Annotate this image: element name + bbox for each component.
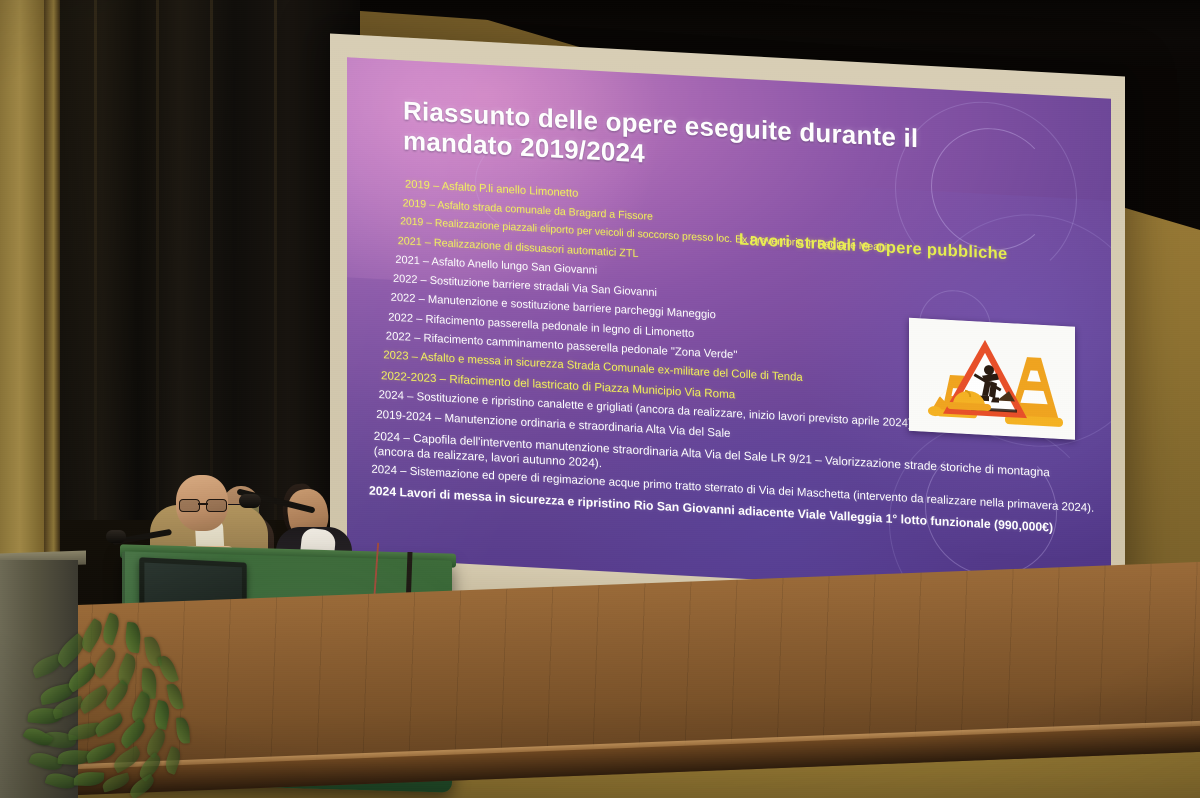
plant-leaf [152, 700, 172, 730]
plant-leaf [114, 653, 140, 687]
plant-leaf [90, 647, 120, 679]
photo-scene: Riassunto delle opere eseguite durante i… [0, 0, 1200, 798]
microphone-icon [106, 530, 126, 543]
plant-leaf [157, 654, 179, 685]
plant-leaf [124, 622, 142, 653]
presentation-slide: Riassunto delle opere eseguite durante i… [347, 57, 1111, 610]
glasses-icon [178, 499, 228, 510]
roadworks-clipart [909, 318, 1075, 440]
plant-leaf [92, 713, 125, 738]
plant-leaf [45, 770, 78, 793]
slide-title: Riassunto delle opere eseguite durante i… [403, 96, 943, 184]
microphone-icon [239, 494, 261, 508]
plant-leaf [176, 717, 190, 743]
plant-leaf [101, 772, 131, 792]
plant-leaf [85, 743, 117, 764]
plant-leaf [74, 771, 104, 786]
plant-leaf [127, 774, 158, 798]
plant-leaf [99, 613, 122, 646]
roadworks-clipart-svg [909, 318, 1075, 440]
potted-plant [22, 604, 254, 798]
plant-leaf [58, 749, 91, 766]
plant-leaf [166, 683, 183, 711]
plant-leaf [22, 724, 53, 750]
plant-leaf [162, 746, 183, 775]
